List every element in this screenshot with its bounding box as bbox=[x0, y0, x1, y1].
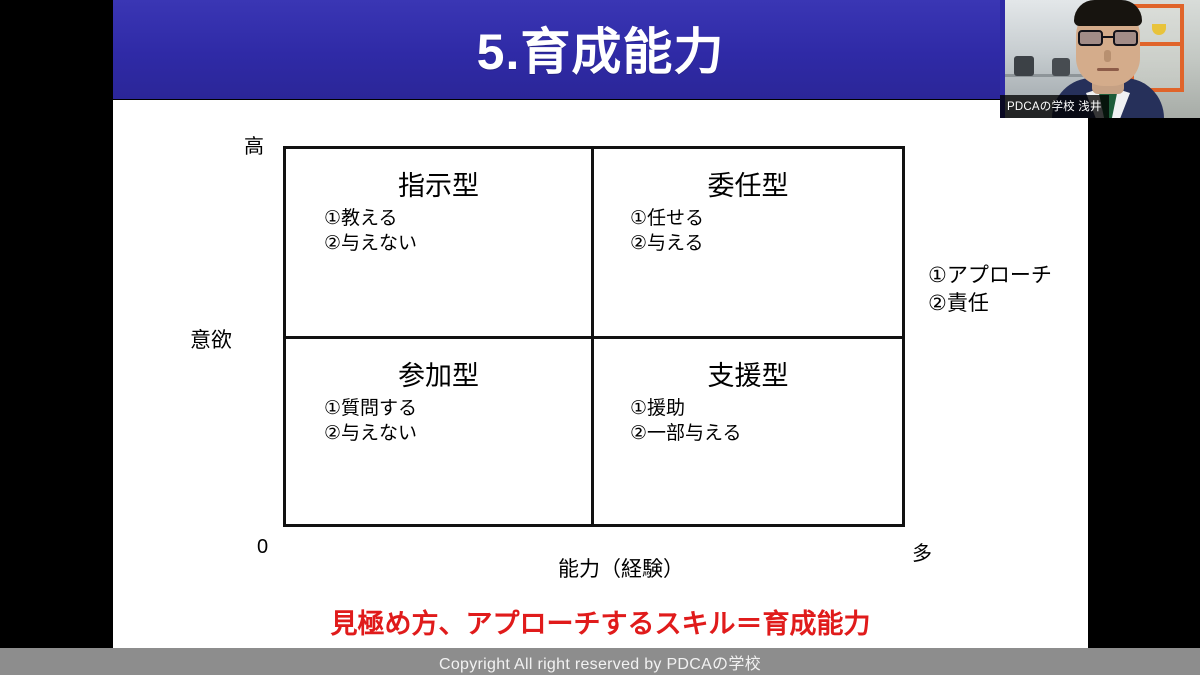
screen: 5.育成能力 高 意欲 0 多 能力（経験） 指示型 ①教える ②与えない 委任… bbox=[0, 0, 1200, 675]
quadrant-item: ①教える bbox=[324, 206, 591, 231]
legend-line-1: ①アプローチ bbox=[928, 262, 1052, 290]
person-nose bbox=[1104, 50, 1111, 62]
quadrant-heading: 委任型 bbox=[594, 171, 902, 202]
footer-bar: Copyright All right reserved by PDCAの学校 bbox=[0, 648, 1200, 675]
quadrant-items: ①質問する ②与えない bbox=[286, 396, 591, 446]
quadrant-item: ②与える bbox=[630, 231, 902, 256]
matrix-legend: ①アプローチ ②責任 bbox=[928, 262, 1052, 318]
person-mouth bbox=[1097, 68, 1119, 71]
quadrant-item: ①質問する bbox=[324, 396, 591, 421]
person-hair bbox=[1074, 0, 1142, 26]
glasses-lens-right bbox=[1113, 30, 1138, 46]
quadrant-item: ②与えない bbox=[324, 421, 591, 446]
copyright-text: Copyright All right reserved by PDCAの学校 bbox=[439, 650, 761, 674]
quadrant-heading: 支援型 bbox=[594, 361, 902, 392]
glasses-lens-left bbox=[1078, 30, 1103, 46]
quadrant-heading: 指示型 bbox=[286, 171, 591, 202]
page-title: 5.育成能力 bbox=[477, 27, 725, 77]
leadership-matrix: 指示型 ①教える ②与えない 委任型 ①任せる ②与える 参加型 ①質問する ②… bbox=[283, 146, 905, 527]
participant-name-label: PDCAの学校 浅井 bbox=[1000, 95, 1109, 118]
axis-label-high: 高 bbox=[244, 130, 264, 159]
quadrant-item: ①任せる bbox=[630, 206, 902, 231]
slide-tagline: 見極め方、アプローチするスキル＝育成能力 bbox=[113, 602, 1088, 641]
axis-label-zero: 0 bbox=[257, 536, 268, 559]
quadrant-items: ①援助 ②一部与える bbox=[594, 396, 902, 446]
quadrant-items: ①教える ②与えない bbox=[286, 206, 591, 256]
axis-label-y: 意欲 bbox=[190, 324, 232, 354]
legend-line-2: ②責任 bbox=[928, 290, 1052, 318]
quadrant-item: ②一部与える bbox=[630, 421, 902, 446]
quadrant-item: ②与えない bbox=[324, 231, 591, 256]
quadrant-items: ①任せる ②与える bbox=[594, 206, 902, 256]
webcam-overlay[interactable]: PDCAの学校 浅井 bbox=[1000, 0, 1200, 118]
chair-icon bbox=[1014, 56, 1034, 76]
quadrant-top-right: 委任型 ①任せる ②与える bbox=[594, 149, 902, 339]
slide-title-banner: 5.育成能力 bbox=[113, 0, 1088, 99]
axis-label-x: 能力（経験） bbox=[558, 553, 684, 583]
quadrant-top-left: 指示型 ①教える ②与えない bbox=[286, 149, 594, 339]
glasses-bridge bbox=[1103, 36, 1113, 38]
quadrant-item: ①援助 bbox=[630, 396, 902, 421]
glasses-icon bbox=[1078, 30, 1138, 46]
quadrant-bottom-left: 参加型 ①質問する ②与えない bbox=[286, 339, 594, 524]
quadrant-heading: 参加型 bbox=[286, 361, 591, 392]
axis-label-many: 多 bbox=[912, 537, 932, 566]
chair-icon bbox=[1052, 58, 1070, 76]
quadrant-bottom-right: 支援型 ①援助 ②一部与える bbox=[594, 339, 902, 524]
